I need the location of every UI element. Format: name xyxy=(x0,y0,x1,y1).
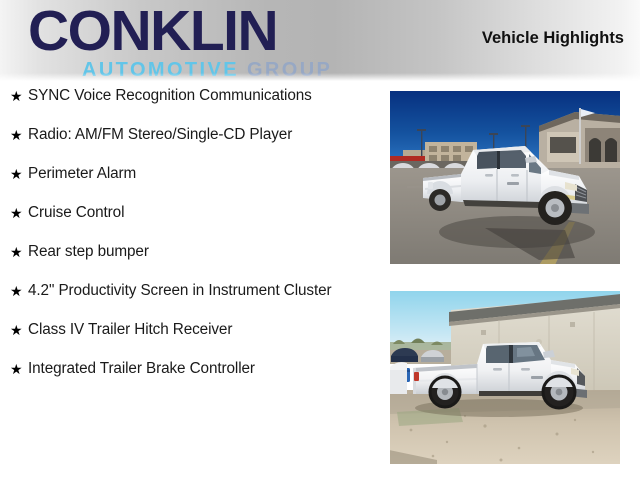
list-item: ★ Cruise Control xyxy=(0,203,380,224)
list-item: ★ 4.2" Productivity Screen in Instrument… xyxy=(0,281,380,302)
list-item-label: Radio: AM/FM Stereo/Single-CD Player xyxy=(28,125,374,146)
list-item-label: SYNC Voice Recognition Communications xyxy=(28,86,374,107)
vehicle-photo-front-three-quarter-image xyxy=(389,90,621,265)
logo-wordmark: CONKLIN xyxy=(28,4,340,58)
list-item: ★ Class IV Trailer Hitch Receiver xyxy=(0,320,380,341)
header-fade xyxy=(0,73,640,81)
list-item-label: Cruise Control xyxy=(28,203,374,224)
list-item-label: Integrated Trailer Brake Controller xyxy=(28,359,374,380)
conklin-logo: CONKLIN AUTOMOTIVE GROUP xyxy=(28,4,340,78)
list-item: ★ Rear step bumper xyxy=(0,242,380,263)
star-icon: ★ xyxy=(10,242,28,262)
vehicle-photo-front-three-quarter[interactable] xyxy=(389,90,621,265)
star-icon: ★ xyxy=(10,359,28,379)
star-icon: ★ xyxy=(10,125,28,145)
page-header: CONKLIN AUTOMOTIVE GROUP Vehicle Highlig… xyxy=(0,0,640,81)
list-item: ★ Perimeter Alarm xyxy=(0,164,380,185)
star-icon: ★ xyxy=(10,203,28,223)
vehicle-highlights-page: CONKLIN AUTOMOTIVE GROUP Vehicle Highlig… xyxy=(0,0,640,480)
list-item: ★ Integrated Trailer Brake Controller xyxy=(0,359,380,380)
star-icon: ★ xyxy=(10,320,28,340)
star-icon: ★ xyxy=(10,164,28,184)
page-title: Vehicle Highlights xyxy=(482,29,624,48)
star-icon: ★ xyxy=(10,281,28,301)
list-item-label: Class IV Trailer Hitch Receiver xyxy=(28,320,374,341)
vehicle-photo-side-profile-image xyxy=(389,290,621,465)
vehicle-photo-side-profile[interactable] xyxy=(389,290,621,465)
list-item: ★ Radio: AM/FM Stereo/Single-CD Player xyxy=(0,125,380,146)
list-item: ★ SYNC Voice Recognition Communications xyxy=(0,86,380,107)
vehicle-highlights-list: ★ SYNC Voice Recognition Communications … xyxy=(0,86,380,398)
list-item-label: Rear step bumper xyxy=(28,242,374,263)
list-item-label: Perimeter Alarm xyxy=(28,164,374,185)
star-icon: ★ xyxy=(10,86,28,106)
list-item-label: 4.2" Productivity Screen in Instrument C… xyxy=(28,281,374,302)
